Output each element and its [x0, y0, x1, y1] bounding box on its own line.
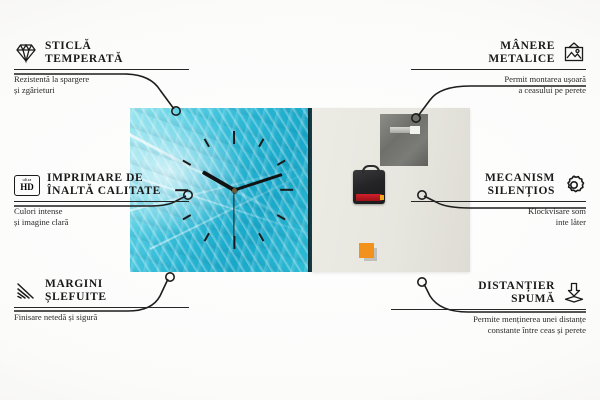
callout-rule — [14, 307, 189, 308]
callout-subtitle-line2: a ceasului pe perete — [411, 85, 586, 96]
clock-tick — [204, 138, 210, 147]
clock-movement — [353, 170, 385, 204]
callout-title: MARGINI — [45, 278, 107, 291]
battery — [356, 194, 382, 201]
callout-subtitle: Permit montarea ușoară — [411, 74, 586, 85]
callout-rule — [14, 69, 189, 70]
metal-hanger-detail — [380, 114, 428, 166]
callout-subtitle: Klockvisare som — [411, 206, 586, 217]
clock-tick — [258, 138, 264, 147]
clock-tick — [277, 160, 286, 166]
callout-title: MECANISM — [485, 172, 555, 185]
callout-subtitle-line2: constante între ceas și perete — [391, 325, 586, 336]
callout-title: STICLĂ — [45, 40, 123, 53]
callout-rule — [14, 201, 189, 202]
callout-title-line2: METALICE — [488, 53, 555, 66]
diamond-icon — [14, 41, 38, 65]
clock-tick — [233, 131, 235, 144]
callout-title-line2: TEMPERATĂ — [45, 53, 123, 66]
diagonal-lines-icon — [14, 279, 38, 303]
infographic-canvas: STICLĂ TEMPERATĂ Rezistentă la spargere … — [0, 0, 600, 400]
minute-hand — [234, 173, 282, 191]
callout-high-quality-print: ultra HD IMPRIMARE DE ÎNALTĂ CALITATE Cu… — [14, 172, 189, 228]
callout-subtitle: Finisare netedă și sigură — [14, 312, 189, 323]
callout-title: IMPRIMARE DE — [47, 172, 161, 185]
callout-subtitle: Culori intense — [14, 206, 189, 217]
callout-silent-mechanism: MECANISM SILENȚIOS Klockvisare som inte … — [411, 172, 586, 228]
hour-hand — [202, 170, 235, 191]
callout-subtitle-line2: și zgârieturi — [14, 85, 189, 96]
callout-subtitle: Rezistentă la spargere — [14, 74, 189, 85]
callout-title-line2: ȘLEFUITE — [45, 291, 107, 304]
callout-title-line2: SILENȚIOS — [485, 185, 555, 198]
ultra-hd-badge-icon: ultra HD — [14, 175, 40, 196]
callout-rule — [391, 309, 586, 310]
callout-rule — [411, 201, 586, 202]
callout-subtitle-line2: și imagine clară — [14, 217, 189, 228]
gear-icon — [562, 173, 586, 197]
clock-tick — [258, 233, 264, 242]
callout-rule — [411, 69, 586, 70]
callout-title: MÂNERE — [488, 40, 555, 53]
callout-subtitle-line2: inte låter — [411, 217, 586, 228]
callout-title: DISTANȚIER — [478, 280, 555, 293]
callout-title-line2: ÎNALTĂ CALITATE — [47, 185, 161, 198]
clock-center-pin — [232, 188, 237, 193]
picture-hanger-icon — [562, 41, 586, 65]
callout-foam-spacer: DISTANȚIER SPUMĂ Permite menținerea unei… — [391, 280, 586, 336]
callout-title-line2: SPUMĂ — [478, 293, 555, 306]
badge-large-text: HD — [20, 183, 34, 192]
clock-tick — [182, 160, 191, 166]
clock-tick — [277, 214, 286, 220]
callout-polished-edges: MARGINI ȘLEFUITE Finisare netedă și sigu… — [14, 278, 189, 323]
arrow-down-pad-icon — [562, 281, 586, 305]
callout-metal-handles: MÂNERE METALICE Permit montarea ușoară a… — [411, 40, 586, 96]
clock-tick — [280, 189, 293, 191]
clock-tick — [204, 233, 210, 242]
callout-subtitle: Permite menținerea unei distanțe — [391, 314, 586, 325]
foam-spacer — [359, 243, 374, 258]
callout-tempered-glass: STICLĂ TEMPERATĂ Rezistentă la spargere … — [14, 40, 189, 96]
